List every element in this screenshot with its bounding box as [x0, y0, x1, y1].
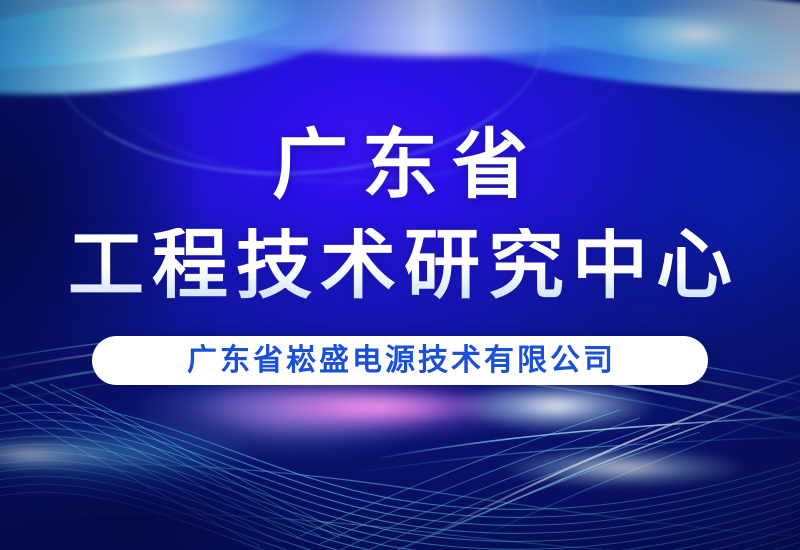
- banner-content: 广东省 工程技术研究中心 广东省崧盛电源技术有限公司: [0, 0, 800, 550]
- company-name-text: 广东省崧盛电源技术有限公司: [184, 346, 616, 376]
- company-name-pill: 广东省崧盛电源技术有限公司: [92, 336, 708, 385]
- title-line-two: 工程技术研究中心: [60, 228, 740, 304]
- certification-banner: 广东省 工程技术研究中心 广东省崧盛电源技术有限公司: [0, 0, 800, 550]
- title-line-one: 广东省: [258, 128, 542, 204]
